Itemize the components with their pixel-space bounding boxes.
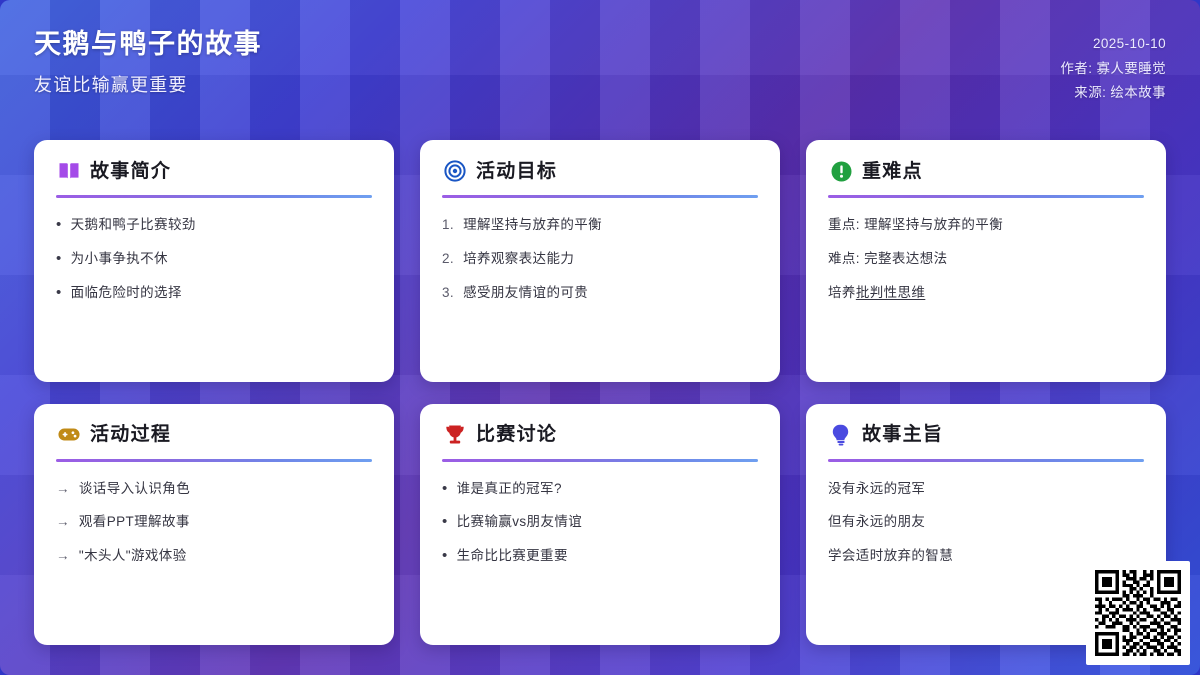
list-item-text: 谈话导入认识角色 xyxy=(79,479,372,500)
list-marker: → xyxy=(56,512,70,533)
list-marker: 1. xyxy=(442,215,454,236)
qr-code xyxy=(1095,570,1181,656)
card-divider xyxy=(442,195,758,198)
card-key-difficulties: 重难点重点: 理解坚持与放弃的平衡难点: 完整表达想法培养批判性思维 xyxy=(806,140,1166,382)
card-body: 重点: 理解坚持与放弃的平衡难点: 完整表达想法培养批判性思维 xyxy=(828,215,1144,364)
text-line-main: 学会适时放弃的智慧 xyxy=(828,548,953,563)
card-divider xyxy=(56,459,372,462)
slide-header: 天鹅与鸭子的故事 友谊比输赢更重要 2025-10-10 作者: 寡人要睡觉 来… xyxy=(0,0,1200,130)
list-item: •比赛输赢vs朋友情谊 xyxy=(442,512,758,533)
list-item-text: 为小事争执不休 xyxy=(71,249,372,270)
list-marker: • xyxy=(56,217,62,232)
text-line-main: 难点: 完整表达想法 xyxy=(828,251,948,266)
text-line-main: 没有永远的冠军 xyxy=(828,481,925,496)
list-item: 3.感受朋友情谊的可贵 xyxy=(442,283,758,304)
page-title: 天鹅与鸭子的故事 xyxy=(34,28,262,62)
list-item: •生命比比赛更重要 xyxy=(442,546,758,567)
card-body: →谈话导入认识角色→观看PPT理解故事→"木头人"游戏体验 xyxy=(56,479,372,628)
list-marker: • xyxy=(442,548,448,563)
trophy-icon xyxy=(444,424,466,446)
text-line-emphasis: 批判性思维 xyxy=(856,285,926,300)
card-divider xyxy=(56,195,372,198)
text-line: 重点: 理解坚持与放弃的平衡 xyxy=(828,215,1144,236)
card-match-discussion: 比赛讨论•谁是真正的冠军?•比赛输赢vs朋友情谊•生命比比赛更重要 xyxy=(420,404,780,646)
list-marker: → xyxy=(56,546,70,567)
card-divider xyxy=(442,459,758,462)
card-title: 重难点 xyxy=(862,162,923,181)
card-grid: 故事简介•天鹅和鸭子比赛较劲•为小事争执不休•面临危险时的选择活动目标1.理解坚… xyxy=(34,140,1166,645)
list-item: 2.培养观察表达能力 xyxy=(442,249,758,270)
text-line: 培养批判性思维 xyxy=(828,283,1144,304)
meta-source: 来源: 绘本故事 xyxy=(1060,81,1166,106)
text-line-main: 重点: 理解坚持与放弃的平衡 xyxy=(828,217,1003,232)
list-item-text: 生命比比赛更重要 xyxy=(457,546,758,567)
list-item-text: 理解坚持与放弃的平衡 xyxy=(463,215,758,236)
list-item-text: 感受朋友情谊的可贵 xyxy=(463,283,758,304)
qr-code-container xyxy=(1086,561,1190,665)
card-body: •天鹅和鸭子比赛较劲•为小事争执不休•面临危险时的选择 xyxy=(56,215,372,364)
card-activity-process: 活动过程→谈话导入认识角色→观看PPT理解故事→"木头人"游戏体验 xyxy=(34,404,394,646)
meta-author: 作者: 寡人要睡觉 xyxy=(1060,57,1166,82)
list-marker: • xyxy=(56,251,62,266)
list-item: •面临危险时的选择 xyxy=(56,283,372,304)
text-line: 但有永远的朋友 xyxy=(828,512,1144,533)
lightbulb-icon xyxy=(830,424,852,446)
list-item: •为小事争执不休 xyxy=(56,249,372,270)
list-marker: • xyxy=(442,514,448,529)
card-activity-goals: 活动目标1.理解坚持与放弃的平衡2.培养观察表达能力3.感受朋友情谊的可贵 xyxy=(420,140,780,382)
card-title: 活动过程 xyxy=(90,425,171,444)
list-marker: 3. xyxy=(442,283,454,304)
card-header: 故事简介 xyxy=(56,160,372,182)
list-item-text: 面临危险时的选择 xyxy=(71,283,372,304)
list-item: 1.理解坚持与放弃的平衡 xyxy=(442,215,758,236)
text-line-main: 但有永远的朋友 xyxy=(828,514,925,529)
card-title: 故事简介 xyxy=(90,162,171,181)
card-divider xyxy=(828,195,1144,198)
gamepad-icon xyxy=(58,424,80,446)
card-header: 比赛讨论 xyxy=(442,424,758,446)
meta-date: 2025-10-10 xyxy=(1060,32,1166,57)
list-item: •谁是真正的冠军? xyxy=(442,479,758,500)
list-item: →"木头人"游戏体验 xyxy=(56,546,372,567)
title-block: 天鹅与鸭子的故事 友谊比输赢更重要 xyxy=(34,28,262,97)
text-line: 没有永远的冠军 xyxy=(828,479,1144,500)
card-header: 活动目标 xyxy=(442,160,758,182)
card-title: 比赛讨论 xyxy=(476,425,557,444)
card-body: 1.理解坚持与放弃的平衡2.培养观察表达能力3.感受朋友情谊的可贵 xyxy=(442,215,758,364)
header-meta: 2025-10-10 作者: 寡人要睡觉 来源: 绘本故事 xyxy=(1060,32,1166,106)
alert-circle-icon xyxy=(830,160,852,182)
list-marker: • xyxy=(442,481,448,496)
text-line: 难点: 完整表达想法 xyxy=(828,249,1144,270)
target-icon xyxy=(444,160,466,182)
card-title: 故事主旨 xyxy=(862,425,943,444)
list-item-text: 谁是真正的冠军? xyxy=(457,479,758,500)
page-subtitle: 友谊比输赢更重要 xyxy=(34,71,262,97)
list-marker: • xyxy=(56,285,62,300)
list-marker: → xyxy=(56,479,70,500)
card-divider xyxy=(828,459,1144,462)
card-header: 故事主旨 xyxy=(828,424,1144,446)
list-item-text: 培养观察表达能力 xyxy=(463,249,758,270)
list-item-text: 天鹅和鸭子比赛较劲 xyxy=(71,215,372,236)
card-title: 活动目标 xyxy=(476,162,557,181)
list-item: →观看PPT理解故事 xyxy=(56,512,372,533)
card-body: •谁是真正的冠军?•比赛输赢vs朋友情谊•生命比比赛更重要 xyxy=(442,479,758,628)
open-book-icon xyxy=(58,160,80,182)
list-item-text: "木头人"游戏体验 xyxy=(79,546,372,567)
list-item: →谈话导入认识角色 xyxy=(56,479,372,500)
list-item: •天鹅和鸭子比赛较劲 xyxy=(56,215,372,236)
list-item-text: 观看PPT理解故事 xyxy=(79,512,372,533)
card-header: 重难点 xyxy=(828,160,1144,182)
slide-page: 天鹅与鸭子的故事 友谊比输赢更重要 2025-10-10 作者: 寡人要睡觉 来… xyxy=(0,0,1200,675)
card-story-intro: 故事简介•天鹅和鸭子比赛较劲•为小事争执不休•面临危险时的选择 xyxy=(34,140,394,382)
list-item-text: 比赛输赢vs朋友情谊 xyxy=(457,512,758,533)
card-header: 活动过程 xyxy=(56,424,372,446)
list-marker: 2. xyxy=(442,249,454,270)
text-line-main: 培养 xyxy=(828,285,856,300)
